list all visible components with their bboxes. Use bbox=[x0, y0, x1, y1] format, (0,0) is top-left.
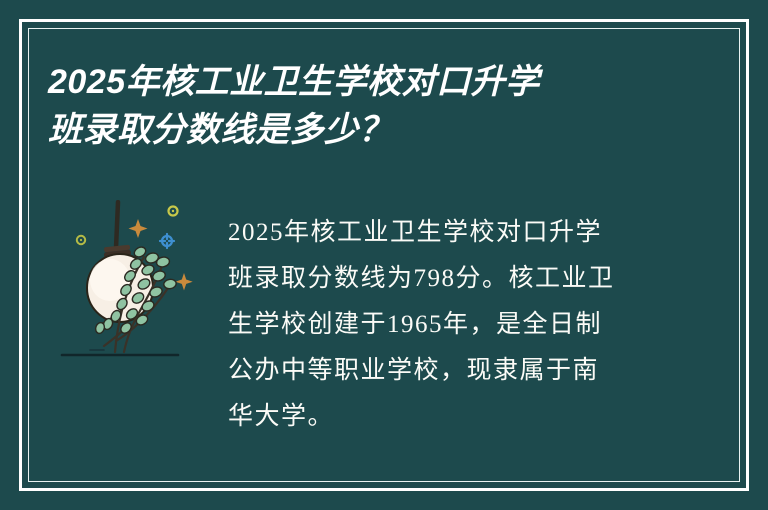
body-line-3: 生学校创建于1965年，是全日制 bbox=[228, 302, 680, 348]
body-line-5: 华大学。 bbox=[228, 394, 680, 440]
body-line-1: 2025年核工业卫生学校对口升学 bbox=[228, 210, 680, 256]
body-line-4: 公办中等职业学校，现隶属于南 bbox=[228, 348, 680, 394]
title-line-2: 班录取分数线是多少？ bbox=[48, 106, 688, 154]
poster-canvas: 2025年核工业卫生学校对口升学 班录取分数线是多少？ bbox=[0, 0, 768, 510]
page-title: 2025年核工业卫生学校对口升学 班录取分数线是多少？ bbox=[48, 58, 688, 154]
hanging-cord bbox=[116, 202, 118, 248]
body-line-2: 班录取分数线为798分。核工业卫 bbox=[228, 256, 680, 302]
body-text: 2025年核工业卫生学校对口升学 班录取分数线为798分。核工业卫 生学校创建于… bbox=[228, 210, 680, 440]
title-line-1: 2025年核工业卫生学校对口升学 bbox=[48, 58, 688, 106]
hanging-bulb-illustration bbox=[60, 200, 210, 370]
